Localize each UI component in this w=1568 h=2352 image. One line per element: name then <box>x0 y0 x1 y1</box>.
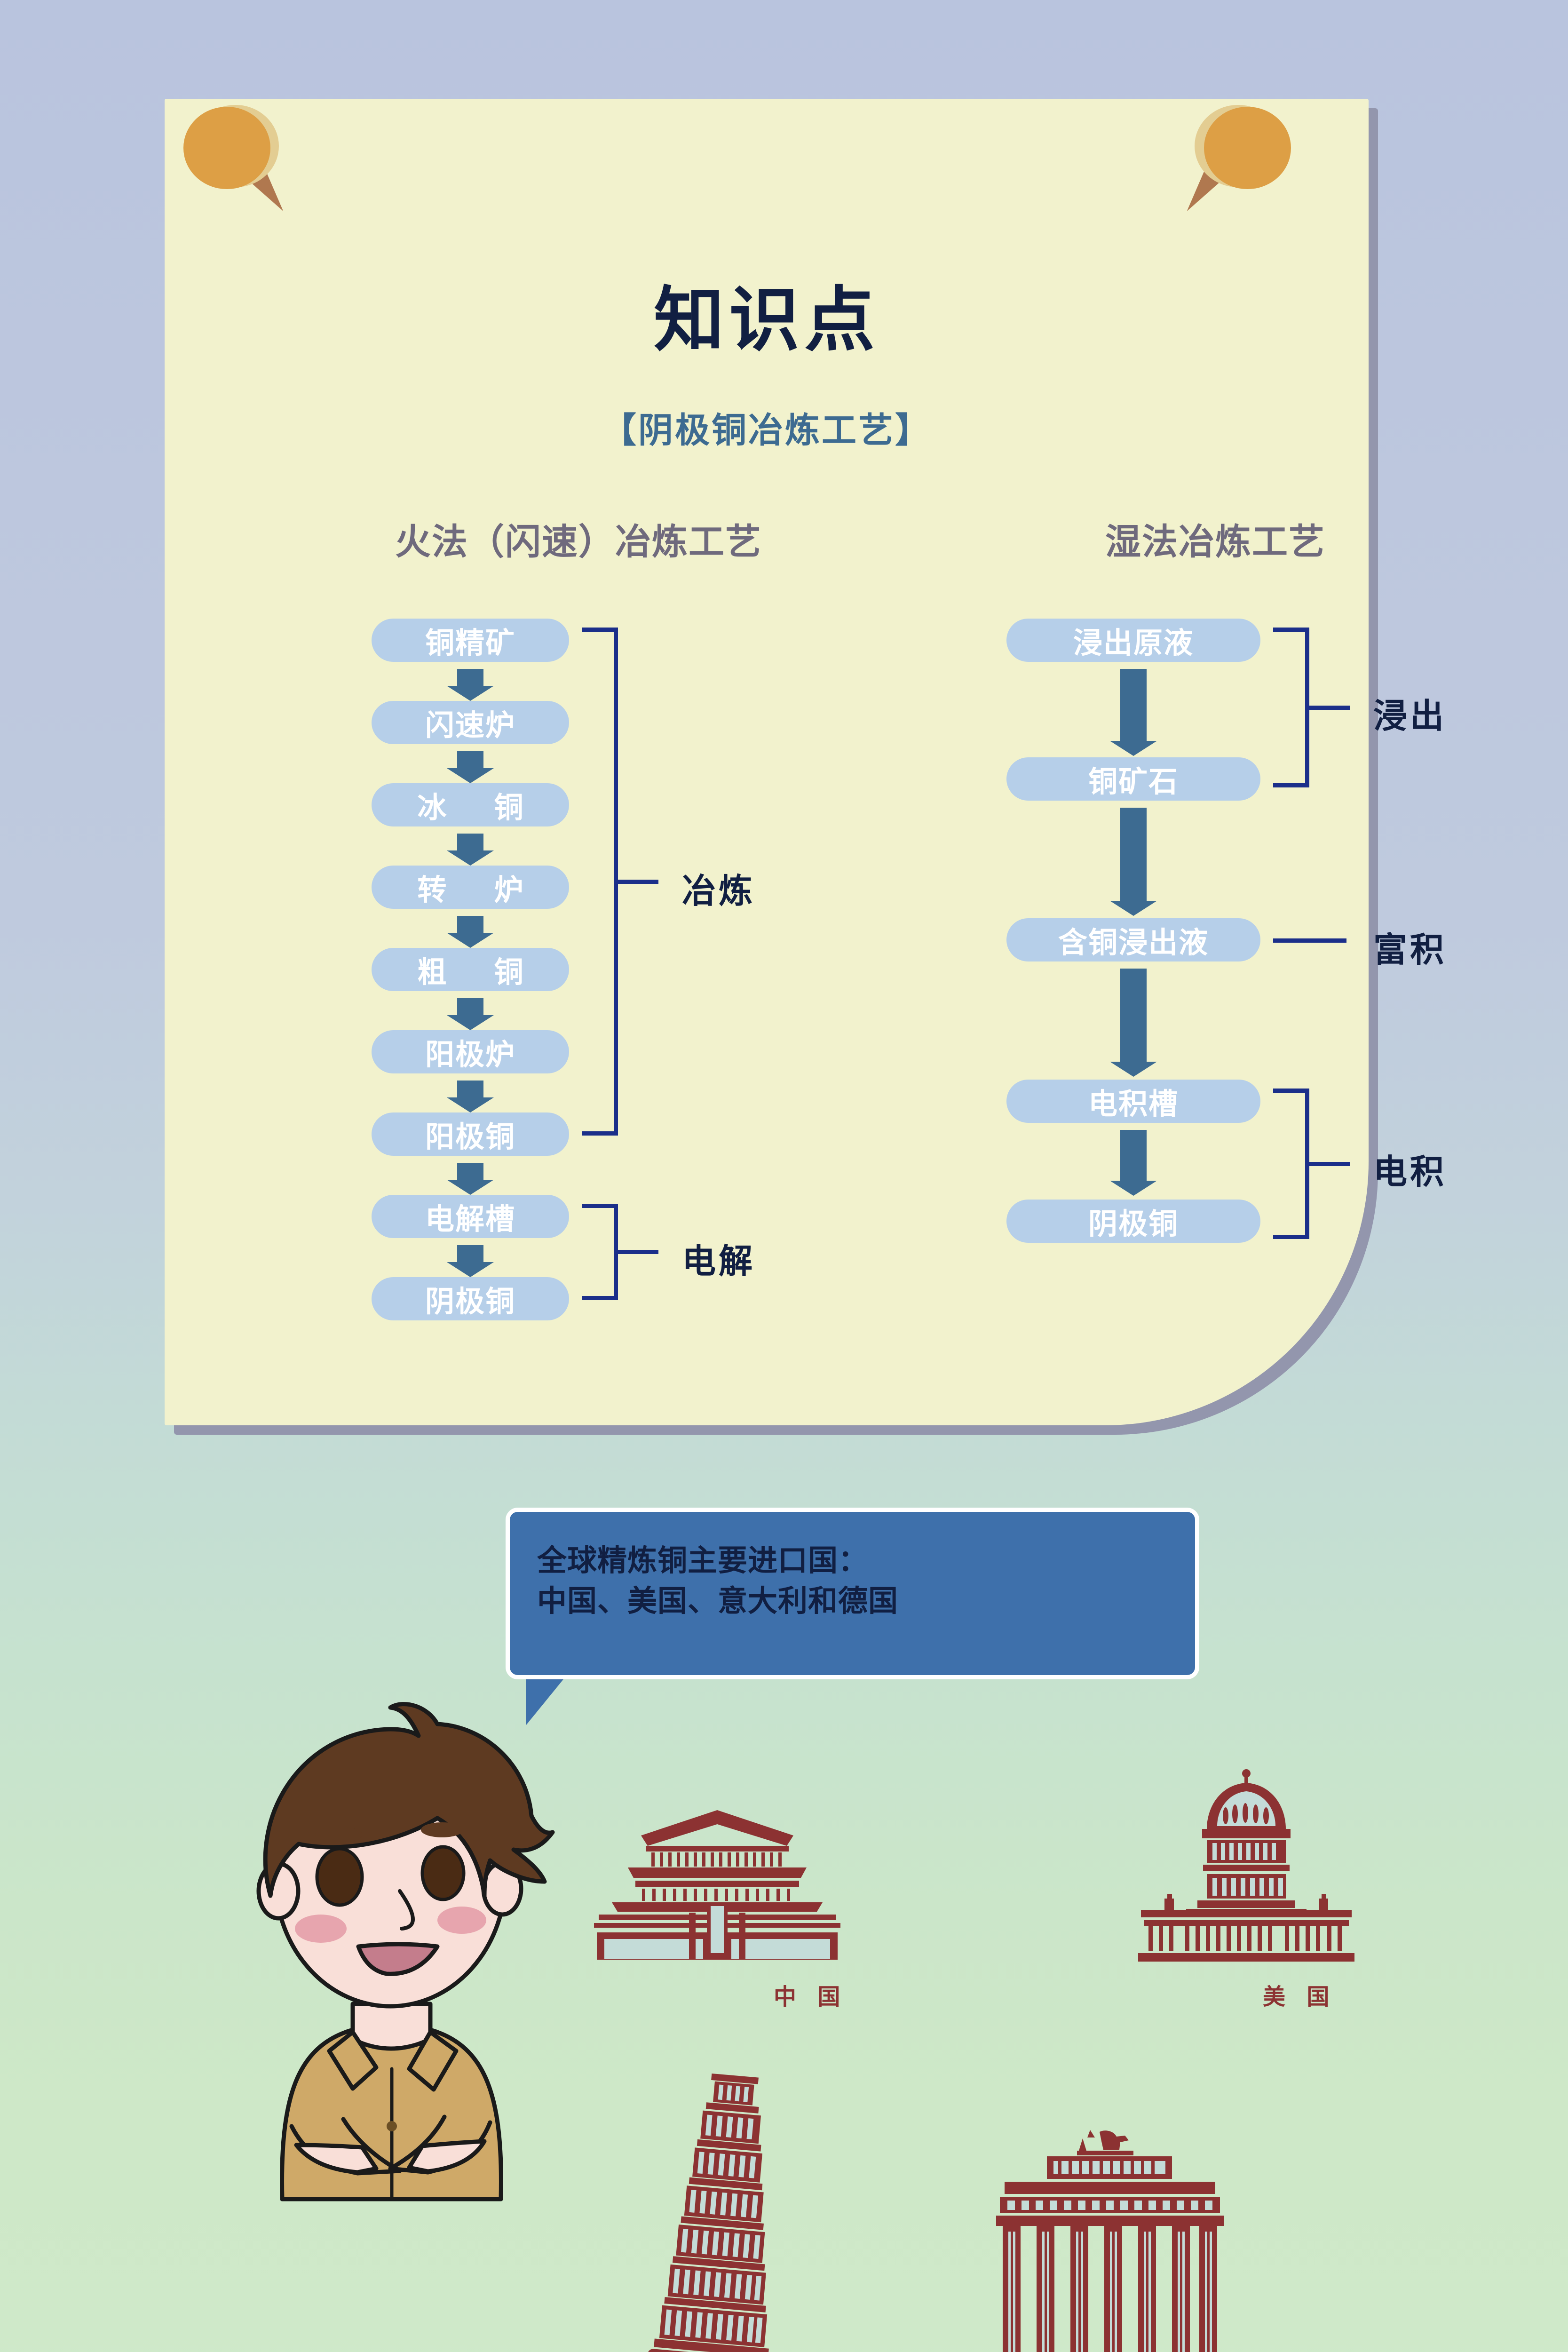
group-label-enrichment: 富积 <box>1373 922 1447 971</box>
landmark-label-china: 中 国 <box>774 1978 847 2011</box>
forbidden-city-icon <box>590 1806 844 1966</box>
flow-arrow-icon <box>1120 1130 1147 1182</box>
page-subtitle: 【阴极铜冶炼工艺】 <box>165 402 1369 453</box>
landmark-label-usa: 美 国 <box>1263 1978 1337 2011</box>
flow-box-left-3[interactable]: 转 炉 <box>372 866 569 909</box>
infographic-poster: 知识点 【阴极铜冶炼工艺】 火法（闪速）冶炼工艺 湿法冶炼工艺 铜精矿 闪速炉 … <box>0 0 1568 2352</box>
group-line-enrichment <box>1273 938 1346 943</box>
flow-arrow-icon <box>457 916 483 934</box>
flow-box-left-4[interactable]: 粗 铜 <box>372 948 569 991</box>
flow-box-left-2[interactable]: 冰 铜 <box>372 783 569 826</box>
knowledge-card: 知识点 【阴极铜冶炼工艺】 火法（闪速）冶炼工艺 湿法冶炼工艺 铜精矿 闪速炉 … <box>165 99 1369 1425</box>
speech-bubble-text: 全球精炼铜主要进口国： 中国、美国、意大利和德国 <box>537 1541 1177 1621</box>
brandenburg-gate-icon <box>964 2126 1256 2352</box>
flow-box-left-5[interactable]: 阳极炉 <box>372 1030 569 1073</box>
flow-arrow-icon <box>1120 969 1147 1063</box>
group-label-smelting: 冶炼 <box>682 863 755 913</box>
flow-box-right-0[interactable]: 浸出原液 <box>1006 619 1260 662</box>
group-label-leaching: 浸出 <box>1373 688 1447 738</box>
flow-arrow-icon <box>457 1245 483 1263</box>
flow-arrow-icon <box>1120 808 1147 902</box>
right-column-heading: 湿法冶炼工艺 <box>1105 513 1325 564</box>
bubble-line-1: 全球精炼铜主要进口国： <box>537 1541 1177 1581</box>
speech-bubble: 全球精炼铜主要进口国： 中国、美国、意大利和德国 <box>506 1508 1199 1679</box>
pushpin-head <box>183 107 270 189</box>
flow-box-left-6[interactable]: 阳极铜 <box>372 1112 569 1156</box>
flow-box-left-1[interactable]: 闪速炉 <box>372 701 569 744</box>
flow-box-right-3[interactable]: 电积槽 <box>1006 1080 1260 1123</box>
left-column-heading: 火法（闪速）冶炼工艺 <box>395 513 762 564</box>
flow-box-left-7[interactable]: 电解槽 <box>372 1195 569 1238</box>
bubble-line-2: 中国、美国、意大利和德国 <box>537 1581 1177 1622</box>
flow-arrow-icon <box>1120 669 1147 742</box>
page-title: 知识点 <box>165 285 1369 355</box>
group-label-electrolysis: 电解 <box>682 1233 755 1283</box>
flow-box-left-0[interactable]: 铜精矿 <box>372 619 569 662</box>
leaning-tower-icon <box>626 2070 795 2352</box>
flow-box-left-8[interactable]: 阴极铜 <box>372 1277 569 1320</box>
flow-arrow-icon <box>457 998 483 1016</box>
flow-arrow-icon <box>457 1163 483 1181</box>
flow-box-right-4[interactable]: 阴极铜 <box>1006 1200 1260 1243</box>
flow-box-right-2[interactable]: 含铜浸出液 <box>1006 918 1260 961</box>
flow-arrow-icon <box>457 834 483 851</box>
group-label-electrowinning: 电积 <box>1373 1144 1447 1193</box>
boy-character <box>155 1675 555 2201</box>
flow-arrow-icon <box>457 751 483 769</box>
pushpin-head <box>1204 107 1291 189</box>
flow-arrow-icon <box>457 1081 483 1098</box>
flow-box-right-1[interactable]: 铜矿石 <box>1006 757 1260 801</box>
us-capitol-icon <box>1119 1769 1373 1966</box>
flow-arrow-icon <box>457 669 483 687</box>
